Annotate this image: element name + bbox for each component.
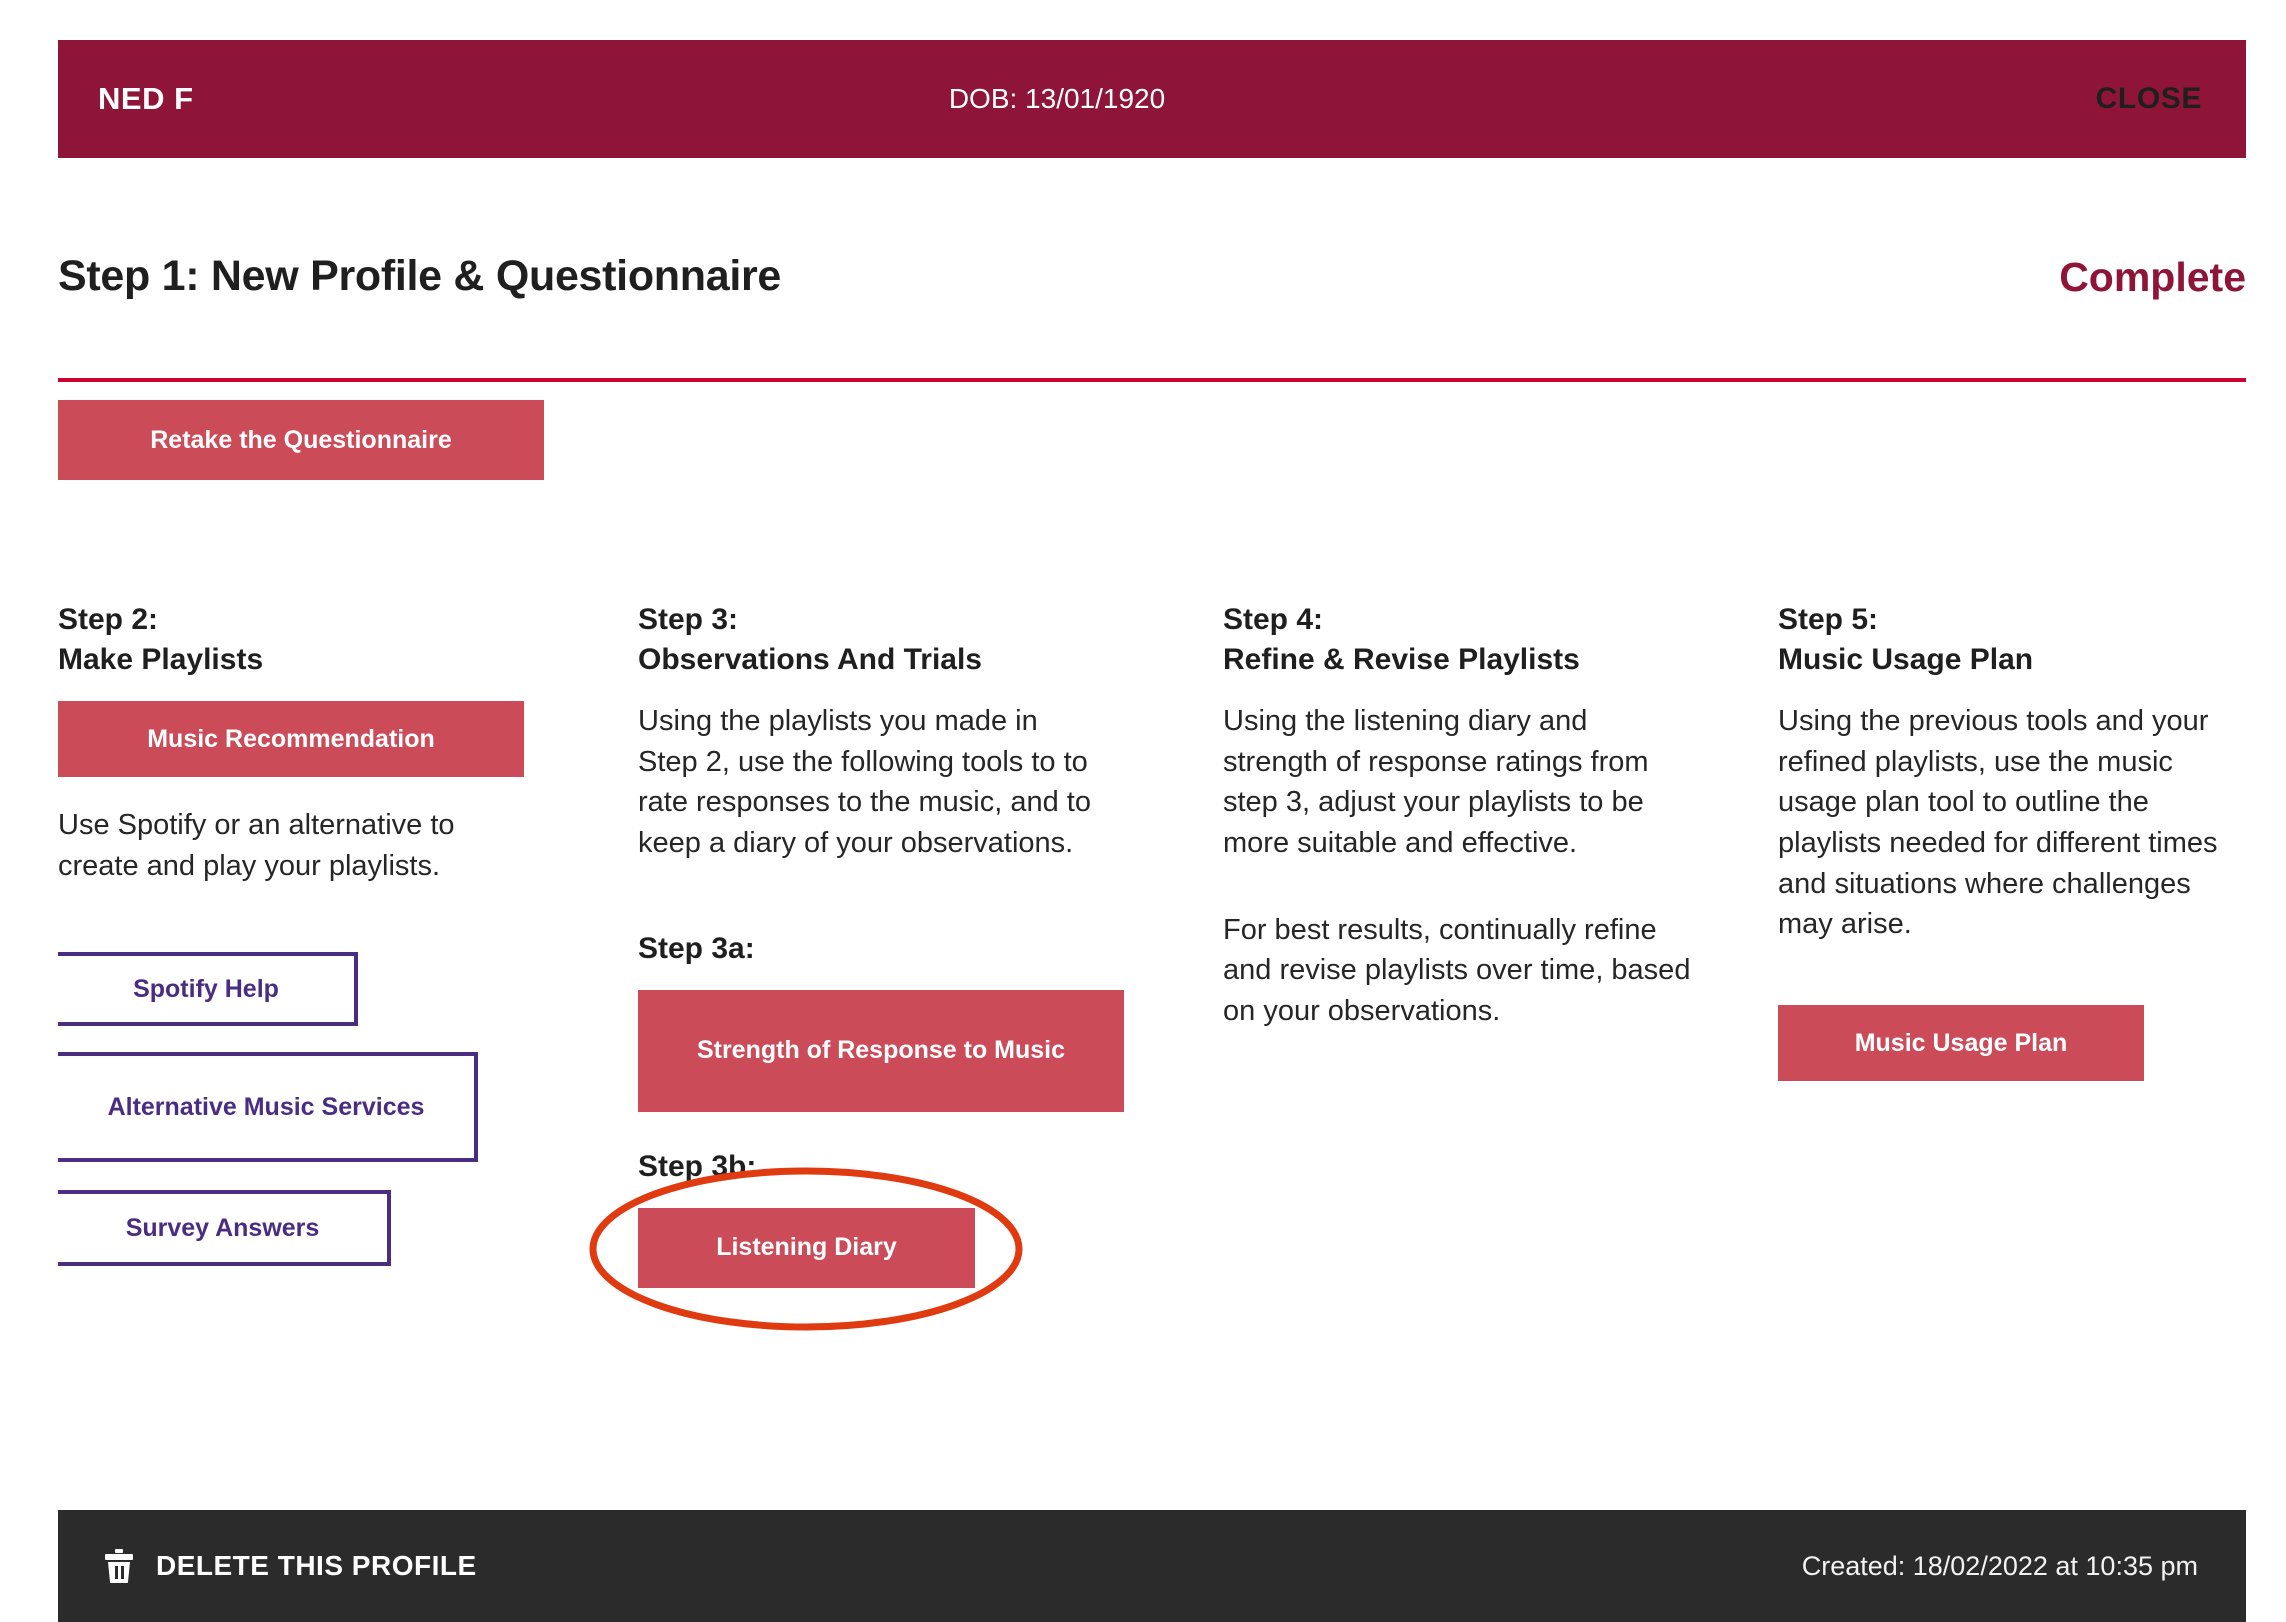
retake-questionnaire-button[interactable]: Retake the Questionnaire	[58, 400, 544, 480]
step-2-heading: Step 2: Make Playlists	[58, 600, 628, 679]
step-4-column: Step 4: Refine & Revise Playlists Using …	[1223, 600, 1753, 1031]
step-5-column: Step 5: Music Usage Plan Using the previ…	[1778, 600, 2278, 1081]
step-3b-label: Step 3b:	[638, 1150, 1198, 1184]
step-5-name: Music Usage Plan	[1778, 640, 2278, 680]
step-5-heading: Step 5: Music Usage Plan	[1778, 600, 2278, 679]
music-usage-plan-button[interactable]: Music Usage Plan	[1778, 1005, 2144, 1081]
spotify-help-link[interactable]: Spotify Help	[58, 952, 358, 1026]
trash-icon	[104, 1549, 134, 1583]
step-3-heading: Step 3: Observations And Trials	[638, 600, 1198, 679]
title-divider	[58, 378, 2246, 382]
step-5-number: Step 5:	[1778, 600, 2278, 640]
delete-profile-button[interactable]: DELETE THIS PROFILE	[104, 1549, 477, 1583]
step-2-number: Step 2:	[58, 600, 628, 640]
status-badge: Complete	[2059, 254, 2246, 301]
step-4-name: Refine & Revise Playlists	[1223, 640, 1753, 680]
strength-of-response-button[interactable]: Strength of Response to Music	[638, 990, 1124, 1112]
page-title-row: Step 1: New Profile & Questionnaire Comp…	[58, 252, 2246, 322]
close-button[interactable]: CLOSE	[2096, 82, 2202, 116]
step-3a-label: Step 3a:	[638, 932, 1198, 966]
step-4-heading: Step 4: Refine & Revise Playlists	[1223, 600, 1753, 679]
step-5-body: Using the previous tools and your refine…	[1778, 701, 2248, 945]
step-2-body: Use Spotify or an alternative to create …	[58, 805, 488, 886]
step-3-body: Using the playlists you made in Step 2, …	[638, 701, 1093, 863]
listening-diary-button[interactable]: Listening Diary	[638, 1208, 975, 1288]
profile-header-bar: NED F DOB: 13/01/1920 CLOSE	[58, 40, 2246, 158]
step-4-body: Using the listening diary and strength o…	[1223, 701, 1693, 863]
created-timestamp: Created: 18/02/2022 at 10:35 pm	[1802, 1551, 2198, 1582]
step-4-body-2: For best results, continually refine and…	[1223, 910, 1693, 1032]
step-3-name: Observations And Trials	[638, 640, 1198, 680]
alternative-music-services-link[interactable]: Alternative Music Services	[58, 1052, 478, 1162]
survey-answers-link[interactable]: Survey Answers	[58, 1190, 391, 1266]
step-2-column: Step 2: Make Playlists Music Recommendat…	[58, 600, 628, 1266]
step-3-number: Step 3:	[638, 600, 1198, 640]
delete-profile-label: DELETE THIS PROFILE	[156, 1550, 477, 1582]
profile-footer-bar: DELETE THIS PROFILE Created: 18/02/2022 …	[58, 1510, 2246, 1622]
profile-dob: DOB: 13/01/1920	[0, 83, 2246, 115]
step-4-number: Step 4:	[1223, 600, 1753, 640]
music-recommendation-button[interactable]: Music Recommendation	[58, 701, 524, 777]
step-3-column: Step 3: Observations And Trials Using th…	[638, 600, 1198, 1288]
step-2-name: Make Playlists	[58, 640, 628, 680]
page-title: Step 1: New Profile & Questionnaire	[58, 252, 781, 301]
